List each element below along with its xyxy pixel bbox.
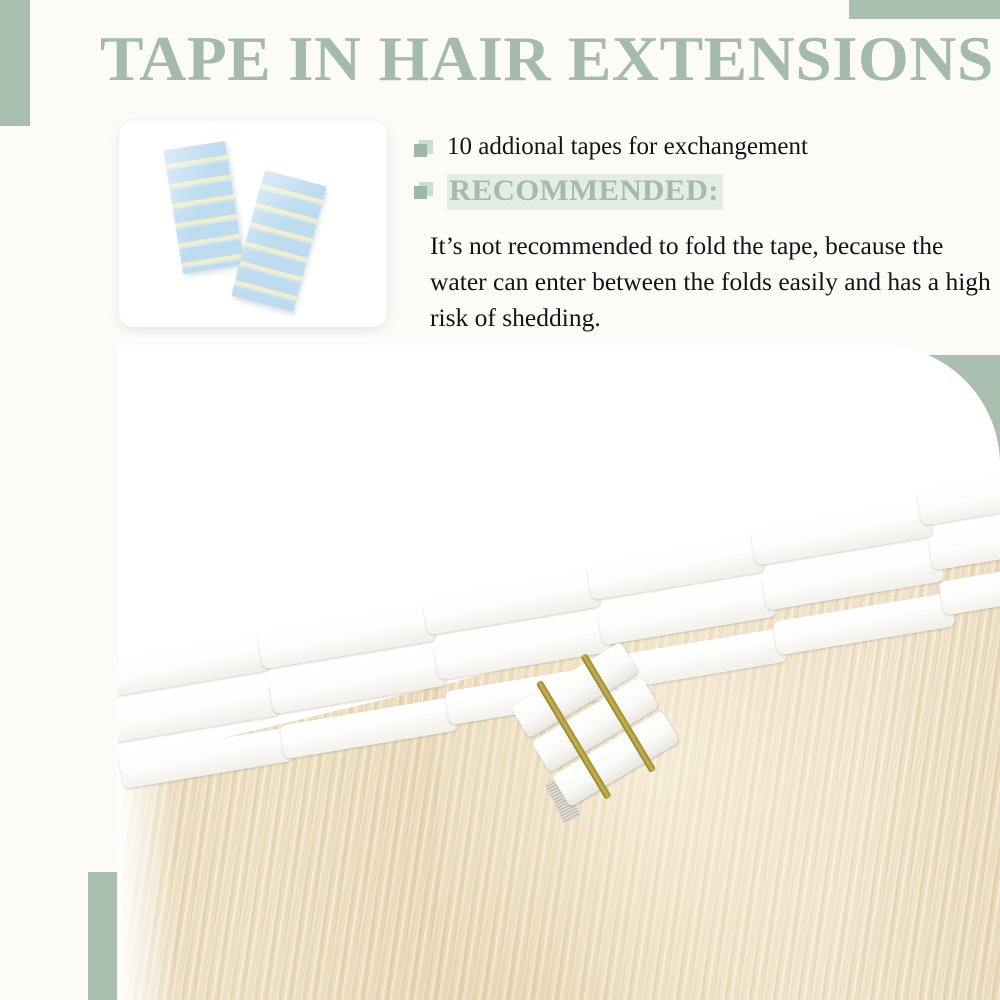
square-bullet-icon — [414, 140, 436, 162]
decor-bar-top-left — [0, 0, 30, 126]
feature-item-recommended: RECOMMENDED: — [414, 174, 1000, 210]
recommended-heading: RECOMMENDED: — [447, 174, 723, 210]
decor-bar-top-right — [849, 0, 1000, 19]
feature-list: 10 addional tapes for exchangement RECOM… — [414, 132, 1000, 210]
recommended-body-text: It’s not recommended to fold the tape, b… — [430, 228, 1000, 336]
blue-tape-strip-left — [164, 141, 245, 274]
product-photo — [118, 345, 1000, 1000]
square-bullet-icon — [414, 182, 436, 204]
tape-thumbnail-card — [119, 121, 387, 327]
decor-bar-bottom-left — [88, 872, 117, 1000]
tape-tab — [916, 462, 1000, 525]
product-infographic: TAPE IN HAIR EXTENSIONS 10 addional tape… — [0, 0, 1000, 1000]
feature-item-tapes: 10 addional tapes for exchangement — [414, 132, 1000, 162]
feature-item-tapes-label: 10 addional tapes for exchangement — [447, 132, 808, 162]
blue-tape-strip-right — [231, 170, 326, 312]
page-title: TAPE IN HAIR EXTENSIONS — [100, 28, 1000, 90]
